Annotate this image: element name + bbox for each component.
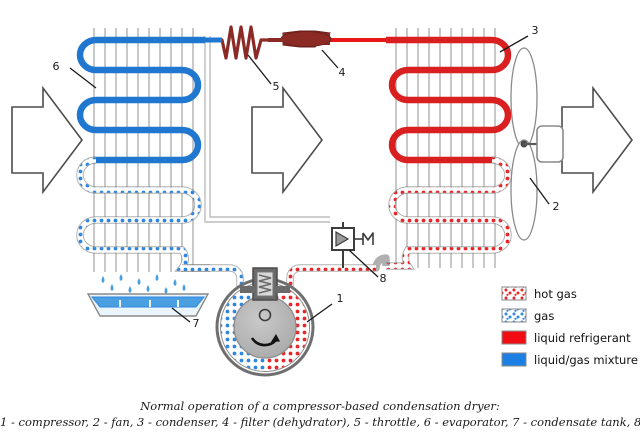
legend-label-hot-gas: hot gas [534,287,577,301]
callout-label-8: 8 [380,272,387,285]
callout-label-7: 7 [193,317,200,330]
callout-label-2: 2 [553,200,560,213]
airflow-arrow-inlet [12,88,82,192]
callout-leaders [70,36,549,322]
solenoid-valve[interactable] [332,222,373,268]
caption: Normal operation of a compressor-based c… [0,398,640,430]
compressor[interactable] [217,268,313,375]
legend-item-liquid-refrigerant: liquid refrigerant [502,331,631,345]
legend-item-liquid-gas-mixture: liquid/gas mixture [502,353,638,367]
evaporator-coil-upper [80,40,205,160]
legend: hot gas gas liquid refrigerant liquid/ga… [502,287,638,367]
condenser-coil-upper [386,40,508,160]
airflow-arrow-outlet [562,88,632,192]
diagram-canvas: 6 2 3 4 5 7 1 8 hot gas gas liquid refri… [0,0,640,444]
evaporator-fins [94,28,193,272]
callout-label-1: 1 [337,292,344,305]
throttle-coil [222,27,268,58]
callout-label-4: 4 [339,66,346,79]
condensate-tank [88,294,208,316]
callout-label-5: 5 [273,80,280,93]
caption-line-2: 1 - compressor, 2 - fan, 3 - condenser, … [0,414,640,430]
callout-label-6: 6 [53,60,60,73]
airflow-arrow-middle [252,88,322,192]
condenser-fins [396,28,495,268]
filter-dehydrator [281,31,331,47]
legend-label-liquid-gas-mixture: liquid/gas mixture [534,353,638,367]
legend-item-gas: gas [502,309,554,323]
legend-label-gas: gas [534,309,554,323]
callout-label-3: 3 [532,24,539,37]
condensate-droplets [102,274,186,294]
caption-line-1: Normal operation of a compressor-based c… [0,398,640,414]
legend-item-hot-gas: hot gas [502,287,577,301]
legend-label-liquid-refrigerant: liquid refrigerant [534,331,631,345]
